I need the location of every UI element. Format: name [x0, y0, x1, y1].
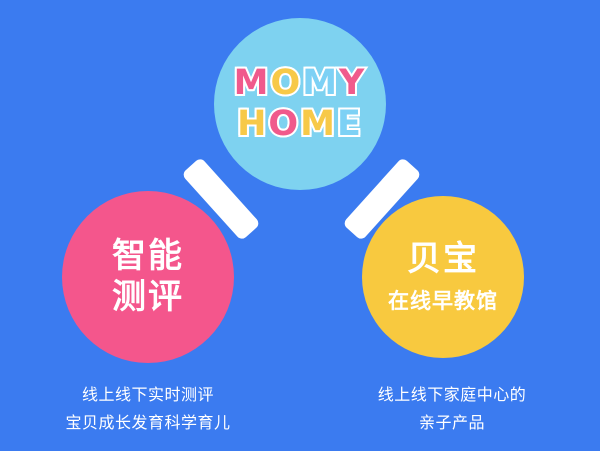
caption-right: 线上线下家庭中心的 亲子产品	[322, 381, 582, 437]
bubble-smart-assessment[interactable]: 智能 测评	[62, 191, 234, 363]
logo-char-y: Y	[339, 63, 366, 104]
caption-left: 线上线下实时测评 宝贝成长发育科学育儿	[18, 381, 278, 437]
logo-char-e: E	[337, 104, 363, 145]
logo-line-2: HOME	[237, 104, 363, 145]
caption-right-line2: 亲子产品	[322, 409, 582, 437]
logo-char-m1: M	[234, 63, 271, 104]
caption-right-line1: 线上线下家庭中心的	[322, 381, 582, 409]
bubble-left-title-line2: 测评	[112, 277, 184, 318]
logo-char-m2: M	[302, 63, 339, 104]
bubble-beibao[interactable]: 贝宝 在线早教馆	[362, 196, 524, 358]
logo-line-1: MOMY	[234, 63, 367, 104]
logo-char-h: H	[237, 104, 268, 145]
diagram-canvas: MOMY HOME 智能 测评 贝宝 在线早教馆 线上线下实时测评 宝贝成长发育…	[0, 0, 600, 451]
bubble-right-subtitle: 在线早教馆	[388, 285, 498, 315]
logo-char-o2: O	[268, 104, 300, 145]
bubble-left-title-line1: 智能	[112, 236, 184, 277]
caption-left-line2: 宝贝成长发育科学育儿	[18, 409, 278, 437]
caption-left-line1: 线上线下实时测评	[18, 381, 278, 409]
logo-char-o1: O	[270, 63, 302, 104]
logo-char-m3: M	[300, 104, 337, 145]
bubble-right-title: 贝宝	[407, 239, 479, 280]
bubble-brand-logo[interactable]: MOMY HOME	[214, 18, 386, 190]
